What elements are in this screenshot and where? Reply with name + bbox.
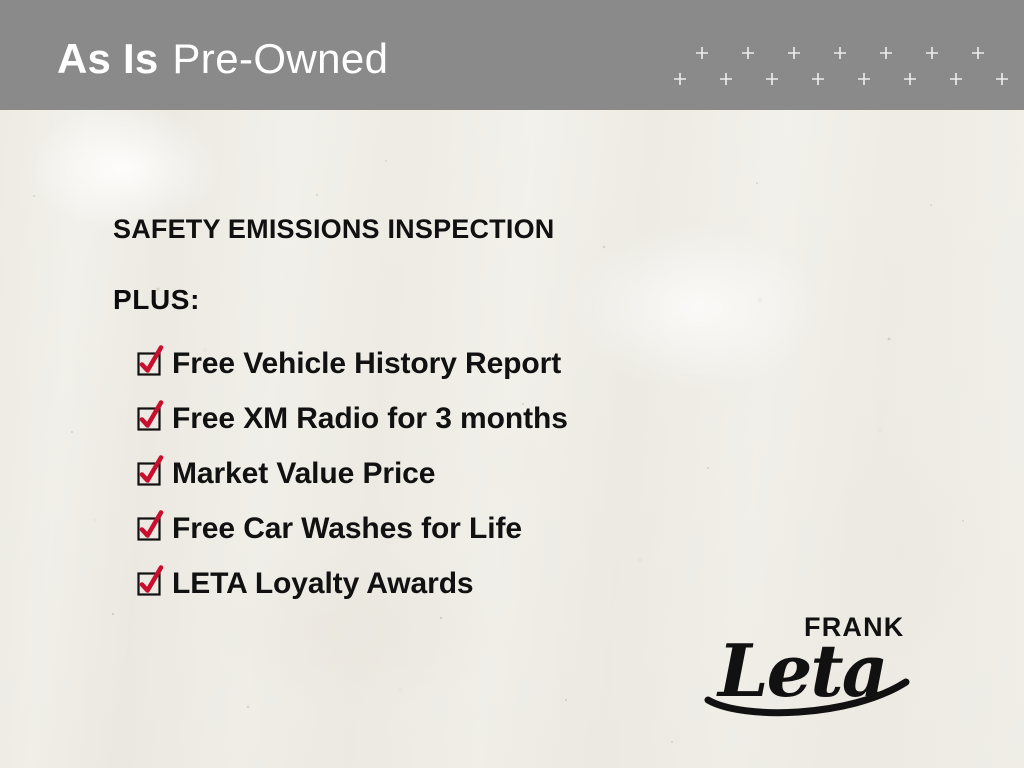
page-title-strong: As Is bbox=[57, 35, 158, 82]
list-item-label: LETA Loyalty Awards bbox=[172, 567, 474, 601]
list-item-label: Free Vehicle History Report bbox=[172, 347, 561, 381]
list-item: Market Value Price bbox=[113, 446, 813, 501]
list-item: Free XM Radio for 3 months bbox=[113, 391, 813, 446]
list-item: Free Car Washes for Life bbox=[113, 501, 813, 556]
plus-mark-decoration bbox=[672, 40, 1012, 92]
slide-content: SAFETY EMISSIONS INSPECTION PLUS: Free V… bbox=[113, 213, 813, 611]
list-item-label: Market Value Price bbox=[172, 457, 435, 491]
plus-label: PLUS: bbox=[113, 285, 813, 315]
list-item: Free Vehicle History Report bbox=[113, 336, 813, 391]
checked-checkbox-icon bbox=[135, 564, 169, 598]
plus-mark-row-bottom bbox=[674, 73, 1008, 85]
checked-checkbox-icon bbox=[135, 344, 169, 378]
list-item-label: Free XM Radio for 3 months bbox=[172, 402, 568, 436]
checked-checkbox-icon bbox=[135, 454, 169, 488]
page-title-light: Pre-Owned bbox=[172, 35, 388, 82]
slide-canvas: As IsPre-Owned bbox=[0, 0, 1024, 768]
frank-leta-logo: FRANK Leta bbox=[700, 604, 915, 722]
page-title: As IsPre-Owned bbox=[57, 36, 388, 82]
list-item: LETA Loyalty Awards bbox=[113, 556, 813, 611]
headline-text: SAFETY EMISSIONS INSPECTION bbox=[113, 213, 813, 245]
checked-checkbox-icon bbox=[135, 509, 169, 543]
list-item-label: Free Car Washes for Life bbox=[172, 512, 522, 546]
header-bar: As IsPre-Owned bbox=[0, 0, 1024, 110]
plus-mark-row-top bbox=[696, 47, 984, 59]
benefits-list: Free Vehicle History Report Free XM Radi… bbox=[113, 336, 813, 611]
checked-checkbox-icon bbox=[135, 399, 169, 433]
